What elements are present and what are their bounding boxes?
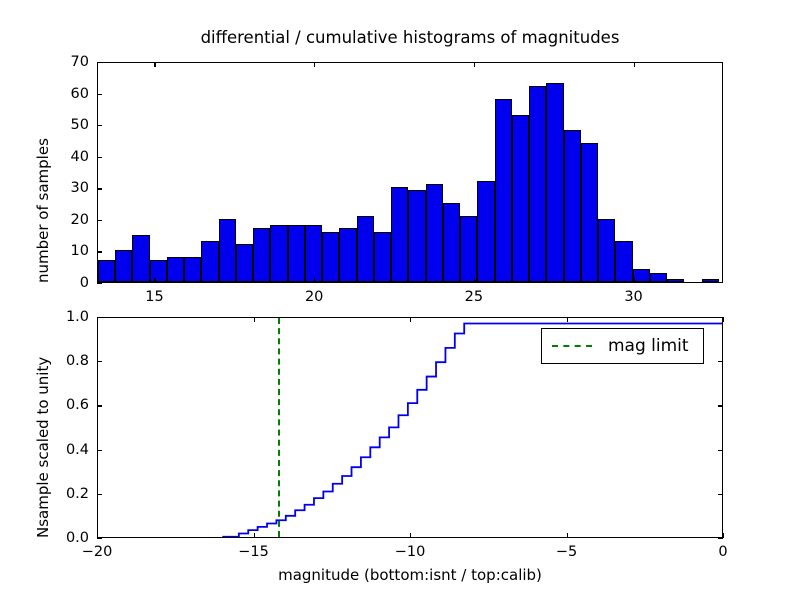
top-x-ticklabel: 20 xyxy=(305,289,323,305)
bottom-y-tick xyxy=(97,450,102,451)
histogram-bar xyxy=(357,216,374,282)
bottom-x-tick xyxy=(254,317,255,322)
bottom-x-tick xyxy=(723,533,724,538)
bottom-y-tick xyxy=(97,405,102,406)
page-title: differential / cumulative histograms of … xyxy=(97,28,723,47)
histogram-bar xyxy=(667,279,684,282)
top-x-tick xyxy=(634,62,635,67)
bottom-x-ticklabel: −10 xyxy=(395,544,426,560)
bottom-y-tick xyxy=(718,538,723,539)
bottom-x-axis-label: magnitude (bottom:isnt / top:calib) xyxy=(97,566,723,584)
bottom-y-tick xyxy=(718,361,723,362)
histogram-bar xyxy=(529,86,546,282)
histogram-bar xyxy=(408,190,425,282)
top-y-axis-label: number of samples xyxy=(34,138,52,283)
histogram-bar xyxy=(598,219,615,282)
top-x-tick xyxy=(474,62,475,67)
top-y-tick xyxy=(97,283,102,284)
top-y-tick xyxy=(97,62,102,63)
bottom-x-ticklabel: −15 xyxy=(238,544,269,560)
histogram-bar xyxy=(253,228,270,282)
bottom-x-tick xyxy=(567,317,568,322)
top-y-ticklabel: 50 xyxy=(41,117,89,133)
bottom-x-ticklabel: 0 xyxy=(718,544,727,560)
bottom-y-tick xyxy=(718,450,723,451)
top-x-ticklabel: 30 xyxy=(624,289,642,305)
bottom-y-tick xyxy=(97,538,102,539)
matplotlib-figure: differential / cumulative histograms of … xyxy=(0,0,800,600)
bottom-x-tick xyxy=(723,317,724,322)
top-x-ticklabel: 25 xyxy=(465,289,483,305)
top-x-tick xyxy=(314,278,315,283)
histogram-bar xyxy=(650,273,667,282)
histogram-bar xyxy=(633,269,650,282)
histogram-bar xyxy=(546,83,563,282)
top-y-ticklabel: 70 xyxy=(41,54,89,70)
histogram-bar xyxy=(477,181,494,282)
top-x-ticklabel: 15 xyxy=(145,289,163,305)
histogram-bar xyxy=(512,115,529,282)
top-x-tick xyxy=(634,278,635,283)
histogram-bar xyxy=(322,232,339,283)
bottom-x-ticklabel: −5 xyxy=(556,544,577,560)
bottom-y-tick xyxy=(97,317,102,318)
top-y-tick xyxy=(97,94,102,95)
histogram-bar xyxy=(391,187,408,282)
bottom-x-tick xyxy=(567,533,568,538)
histogram-bar xyxy=(219,219,236,282)
histogram-bar xyxy=(288,225,305,282)
top-x-tick xyxy=(474,278,475,283)
histogram-bar xyxy=(184,257,201,282)
differential-histogram-axes xyxy=(97,62,723,283)
histogram-bar xyxy=(615,241,632,282)
histogram-bar xyxy=(460,216,477,282)
bottom-y-tick xyxy=(97,361,102,362)
histogram-bar xyxy=(270,225,287,282)
histogram-bar xyxy=(115,250,132,282)
histogram-bar xyxy=(339,228,356,282)
histogram-bar xyxy=(305,225,322,282)
bottom-x-tick xyxy=(410,317,411,322)
top-y-tick xyxy=(97,220,102,221)
bottom-y-tick xyxy=(718,317,723,318)
top-x-tick xyxy=(154,278,155,283)
top-x-tick xyxy=(154,62,155,67)
mag-limit-dashed-line-icon xyxy=(552,345,592,347)
bottom-x-ticklabel: −20 xyxy=(82,544,113,560)
bottom-x-tick xyxy=(254,533,255,538)
histogram-bar xyxy=(150,260,167,282)
histogram-bar xyxy=(167,257,184,282)
histogram-bar xyxy=(702,279,719,282)
legend-box: mag limit xyxy=(541,328,704,364)
histogram-bar xyxy=(495,99,512,282)
bottom-y-tick xyxy=(718,494,723,495)
histogram-bar xyxy=(443,203,460,282)
top-y-tick xyxy=(97,188,102,189)
histogram-bar xyxy=(236,244,253,282)
top-x-tick xyxy=(314,62,315,67)
bottom-y-tick xyxy=(718,405,723,406)
legend-label-mag-limit: mag limit xyxy=(608,336,689,356)
bottom-y-ticklabel: 1.0 xyxy=(41,309,89,325)
top-y-tick xyxy=(97,125,102,126)
top-y-ticklabel: 60 xyxy=(41,86,89,102)
histogram-plot-area xyxy=(98,63,722,282)
histogram-bar xyxy=(426,184,443,282)
bottom-y-axis-label: Nsample scaled to unity xyxy=(34,357,52,538)
bottom-y-tick xyxy=(97,494,102,495)
histogram-bar xyxy=(132,235,149,282)
histogram-bar xyxy=(98,260,115,282)
bottom-x-tick xyxy=(410,533,411,538)
top-y-tick xyxy=(97,251,102,252)
histogram-bar xyxy=(374,232,391,283)
histogram-bar xyxy=(201,241,218,282)
top-y-tick xyxy=(97,157,102,158)
histogram-bar xyxy=(564,130,581,282)
histogram-bar xyxy=(581,143,598,282)
